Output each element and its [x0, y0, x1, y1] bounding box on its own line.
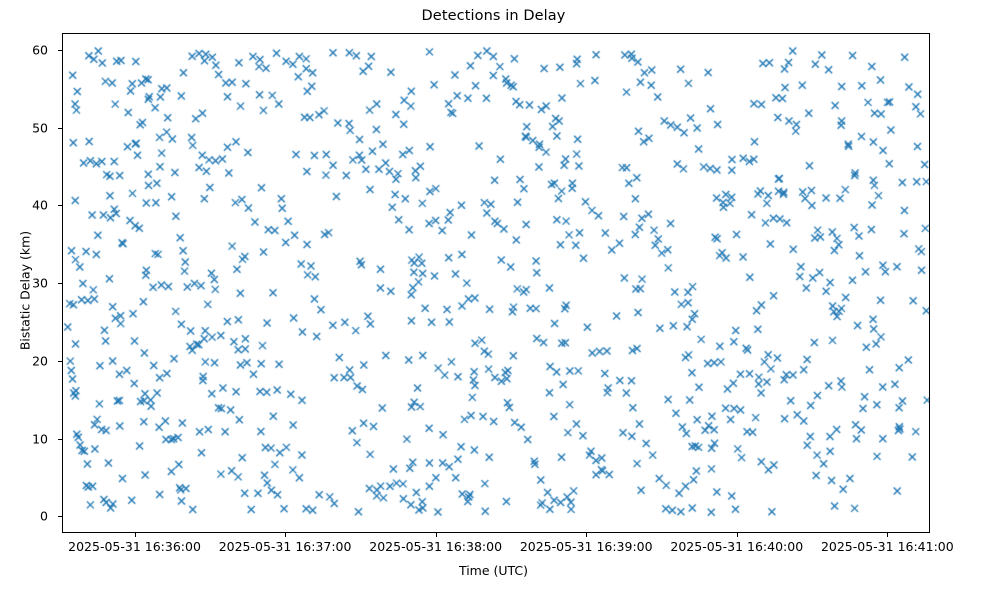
y-tick-label: 60: [0, 43, 48, 58]
chart-title: Detections in Delay: [0, 8, 987, 24]
x-axis-label: Time (UTC): [0, 563, 987, 578]
x-tick-mark: [436, 533, 437, 537]
plot-area[interactable]: [62, 33, 930, 533]
x-tick-mark: [586, 533, 587, 537]
x-tick-label: 2025-05-31 16:40:00: [670, 539, 803, 554]
x-tick-label: 2025-05-31 16:36:00: [68, 539, 201, 554]
x-tick-mark: [135, 533, 136, 537]
x-tick-mark: [285, 533, 286, 537]
x-tick-label: 2025-05-31 16:39:00: [520, 539, 653, 554]
matplotlib-figure: Detections in Delay 0102030405060 2025-0…: [0, 0, 987, 590]
y-axis-label: Bistatic Delay (km): [18, 171, 33, 411]
x-tick-mark: [887, 533, 888, 537]
x-tick-label: 2025-05-31 16:37:00: [219, 539, 352, 554]
y-tick-label: 10: [0, 431, 48, 446]
scatter-points-canvas: [63, 34, 930, 533]
x-tick-mark: [737, 533, 738, 537]
x-tick-label: 2025-05-31 16:41:00: [821, 539, 954, 554]
y-tick-label: 50: [0, 120, 48, 135]
y-tick-label: 0: [0, 509, 48, 524]
x-tick-label: 2025-05-31 16:38:00: [369, 539, 502, 554]
